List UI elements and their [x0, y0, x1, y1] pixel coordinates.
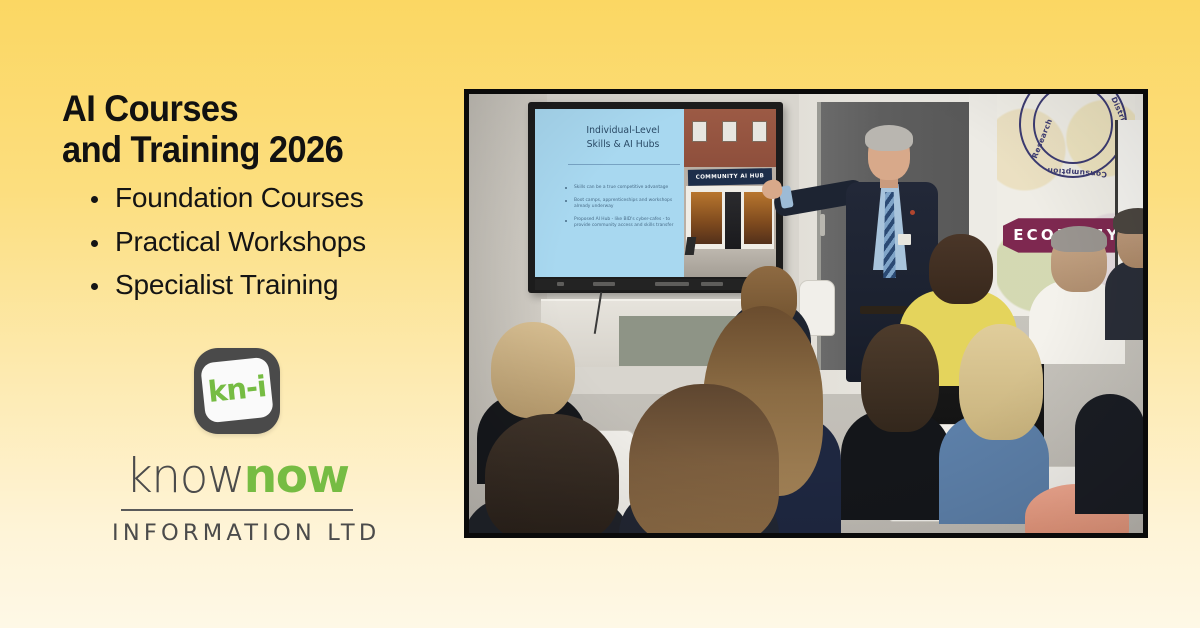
- attendee-hair: [1051, 226, 1107, 252]
- slide-bullet: Boot camps, apprenticeships and workshop…: [563, 198, 681, 210]
- event-photo-scene: Research Production Distribution Consump…: [469, 94, 1143, 533]
- headline-line-1: AI Courses: [62, 88, 425, 129]
- slide-divider: [568, 164, 680, 165]
- presenter-name-badge: [898, 234, 911, 245]
- presentation-slide: Individual-Level Skills & AI Hubs Skills…: [535, 109, 776, 277]
- attendee-head: [485, 414, 619, 533]
- event-photo: Research Production Distribution Consump…: [464, 89, 1148, 538]
- presenter-belt: [860, 306, 908, 314]
- shop-frontage: [686, 186, 774, 252]
- slide-bullet: Skills can be a true competitive advanta…: [563, 185, 681, 191]
- shop-fascia-sign: COMMUNITY AI HUB: [688, 168, 772, 186]
- slide-title-line-2: Skills & AI Hubs: [587, 139, 660, 150]
- company-logo: kn-i knownow INFORMATION LTD: [112, 348, 362, 546]
- slide-bullet: Proposed AI Hub - like BID's cyber-cafes…: [563, 217, 681, 229]
- display-speaker-grille: [655, 282, 689, 286]
- display-bezel-bottom: [535, 279, 776, 290]
- list-item: Practical Workshops: [86, 220, 456, 264]
- presenter-hair: [865, 125, 913, 151]
- slide-bullet-list: Skills can be a true competitive advanta…: [563, 185, 681, 236]
- shop-door: [724, 191, 742, 250]
- slide-title-line-1: Individual-Level: [586, 125, 659, 136]
- slide-title: Individual-Level Skills & AI Hubs: [569, 124, 677, 151]
- list-item: Specialist Training: [86, 263, 456, 307]
- building-window: [692, 121, 707, 142]
- attendee-head: [629, 384, 779, 533]
- knownow-app-icon: kn-i: [194, 348, 280, 434]
- app-icon-label: kn-i: [207, 372, 268, 407]
- building-window: [722, 121, 737, 142]
- attendee-head: [491, 322, 575, 418]
- offering-bullet-list: Foundation Courses Practical Workshops S…: [86, 176, 456, 307]
- wordmark-now: now: [244, 449, 349, 504]
- attendee-body: [1075, 394, 1143, 514]
- attendee-head: [929, 234, 993, 304]
- wordmark-know: know: [126, 449, 244, 504]
- logo-divider: [121, 509, 353, 511]
- list-item: Foundation Courses: [86, 176, 456, 220]
- attendee-body: [1105, 260, 1143, 340]
- display-led-indicator: [557, 282, 564, 286]
- brand-wordmark: knownow: [112, 452, 362, 502]
- app-icon-card: kn-i: [200, 357, 274, 424]
- display-control-button[interactable]: [593, 282, 615, 286]
- shop-window-right: [743, 191, 773, 245]
- display-control-button[interactable]: [701, 282, 723, 286]
- attendee-hair: [1113, 208, 1143, 234]
- wall-mounted-display: Individual-Level Skills & AI Hubs Skills…: [528, 102, 783, 293]
- headline-line-2: and Training 2026: [62, 129, 425, 170]
- attendee-head: [959, 324, 1043, 440]
- attendee-head: [861, 324, 939, 432]
- promo-banner: AI Courses and Training 2026 Foundation …: [0, 0, 1200, 628]
- page-title: AI Courses and Training 2026: [62, 88, 425, 170]
- shop-sign-text: COMMUNITY AI HUB: [696, 173, 765, 180]
- left-content-panel: AI Courses and Training 2026 Foundation …: [0, 0, 464, 628]
- brand-subtitle: INFORMATION LTD: [112, 520, 362, 546]
- presenter-lapel-pin: [910, 210, 915, 215]
- building-window: [752, 121, 767, 142]
